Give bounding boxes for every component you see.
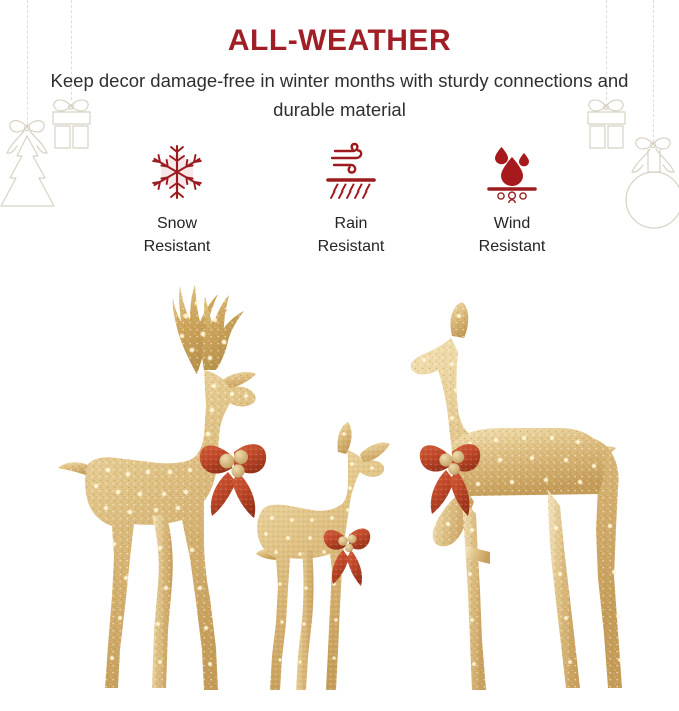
- hanging-string: [27, 0, 28, 125]
- page-subtitle: Keep decor damage-free in winter months …: [50, 66, 629, 124]
- page-title: ALL-WEATHER: [0, 24, 679, 58]
- feature-wind-resistant: Wind Resistant: [437, 143, 587, 258]
- feature-label: Wind Resistant: [437, 212, 587, 258]
- feature-icon-wrap: [437, 143, 587, 205]
- hanging-string: [653, 0, 654, 142]
- feature-icon-wrap: [276, 143, 426, 205]
- snowflake-icon: [146, 141, 208, 208]
- feature-icon-wrap: [102, 143, 252, 205]
- product-photo-deer-family: [0, 258, 679, 711]
- buck-deer-figure: [58, 285, 266, 690]
- feature-row: Snow Resistant: [0, 143, 679, 263]
- feature-snow-resistant: Snow Resistant: [102, 143, 252, 258]
- feature-label: Snow Resistant: [102, 212, 252, 258]
- water-droplet-icon: [481, 141, 543, 208]
- fawn-deer-figure: [256, 422, 390, 690]
- feature-rain-resistant: Rain Resistant: [276, 143, 426, 258]
- product-feature-image: ALL-WEATHER Keep decor damage-free in wi…: [0, 0, 679, 711]
- feature-label: Rain Resistant: [276, 212, 426, 258]
- doe-deer-figure: [411, 302, 623, 690]
- wind-gust-icon: [320, 141, 382, 208]
